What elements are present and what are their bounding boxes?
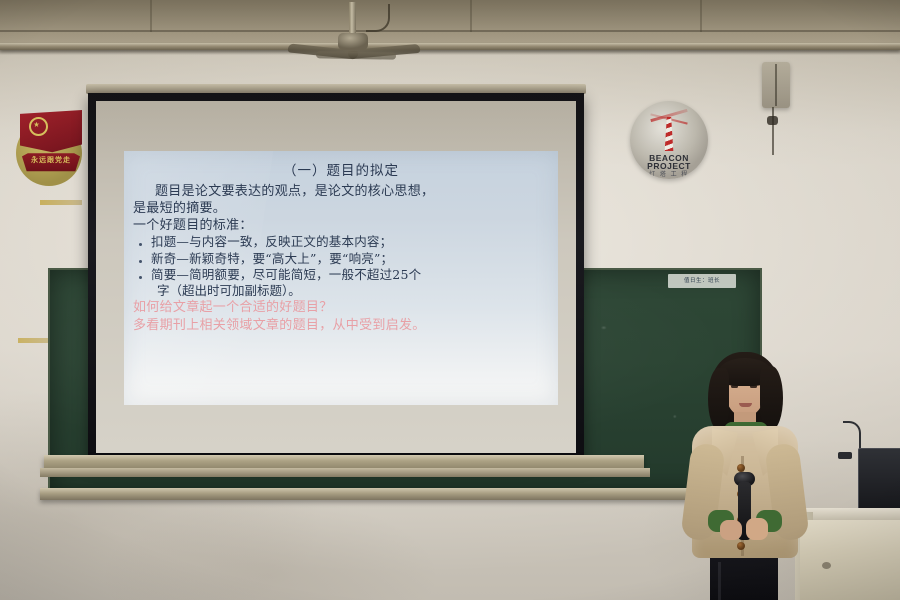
blackboard-label: 值日生：班长 xyxy=(668,274,736,288)
ceiling-rail-shadow xyxy=(0,50,900,55)
wall-tape-strip xyxy=(40,200,82,205)
slide-paragraph-1: 题目是论文要表达的观点，是论文的核心思想， xyxy=(133,183,549,200)
slide-bullet: 扣题—与内容一致，反映正文的基本内容； xyxy=(133,234,549,250)
red-flag-star-icon: 永远跟党走 xyxy=(12,104,90,190)
ceiling-panel-line xyxy=(150,0,152,32)
speaker-cord xyxy=(772,107,774,155)
hand xyxy=(746,518,768,540)
emblem-ribbon-label: 永远跟党走 xyxy=(22,155,80,165)
slide-bullet: 新奇—新颖奇特，要“高大上”，要“响亮”； xyxy=(133,251,549,267)
slide-bullet-continued: 字（超出时可加副标题）。 xyxy=(133,283,549,299)
lectern-body xyxy=(800,520,900,600)
classroom-scene: 永远跟党走 BEACON PROJECT 灯 塔 工 程 值日生：班长 （一）题… xyxy=(0,0,900,600)
slide-red-line-1: 如何给文章起一个合适的好题目？ xyxy=(133,299,549,316)
presenter xyxy=(686,352,804,600)
speaker-slit xyxy=(775,64,777,106)
ceiling-seam xyxy=(0,30,900,32)
fan-blade xyxy=(316,51,396,59)
emblem-ribbon: 永远跟党走 xyxy=(22,152,80,172)
slide-paragraph-2: 是最短的摘要。 xyxy=(133,200,549,217)
ceiling xyxy=(0,0,900,46)
lectern-knob xyxy=(822,562,831,569)
fan-down-rod xyxy=(349,2,356,36)
slide-paragraph-3: 一个好题目的标准： xyxy=(133,217,549,234)
jacket-button xyxy=(737,542,745,550)
slide-red-line-2: 多看期刊上相关领域文章的题目，从中受到启发。 xyxy=(133,317,549,334)
projection-screen: （一）题目的拟定 题目是论文要表达的观点，是论文的核心思想， 是最短的摘要。 一… xyxy=(88,93,584,461)
presentation-slide: （一）题目的拟定 题目是论文要表达的观点，是论文的核心思想， 是最短的摘要。 一… xyxy=(124,151,558,405)
chalk-tray xyxy=(40,488,764,500)
fan-motor xyxy=(338,33,368,50)
hair-side xyxy=(708,368,729,430)
jacket-button xyxy=(737,464,745,472)
lighthouse-icon xyxy=(663,117,675,151)
podium-monitor xyxy=(858,448,900,510)
slide-title: （一）题目的拟定 xyxy=(133,159,549,179)
ceiling-panel-line xyxy=(700,0,702,32)
mouth xyxy=(739,403,752,407)
hair-side xyxy=(760,366,783,430)
speaker-cord-knot xyxy=(767,116,778,125)
beacon-logo-line3: 灯 塔 工 程 xyxy=(630,169,708,178)
hand xyxy=(720,520,742,540)
screen-surface: （一）题目的拟定 题目是论文要表达的观点，是论文的核心思想， 是最短的摘要。 一… xyxy=(96,101,576,453)
ceiling-rail xyxy=(0,43,900,50)
beacon-project-logo: BEACON PROJECT 灯 塔 工 程 xyxy=(630,101,708,179)
leg-seam xyxy=(718,562,721,600)
screen-ledge-lower xyxy=(40,468,650,477)
ceiling-panel-line xyxy=(470,0,472,32)
wall-speaker-unit xyxy=(762,62,790,108)
microphone-base xyxy=(838,452,852,459)
star-icon xyxy=(29,117,48,136)
slide-bullet: 简要—简明额要，尽可能简短，一般不超过25个 xyxy=(133,267,549,283)
